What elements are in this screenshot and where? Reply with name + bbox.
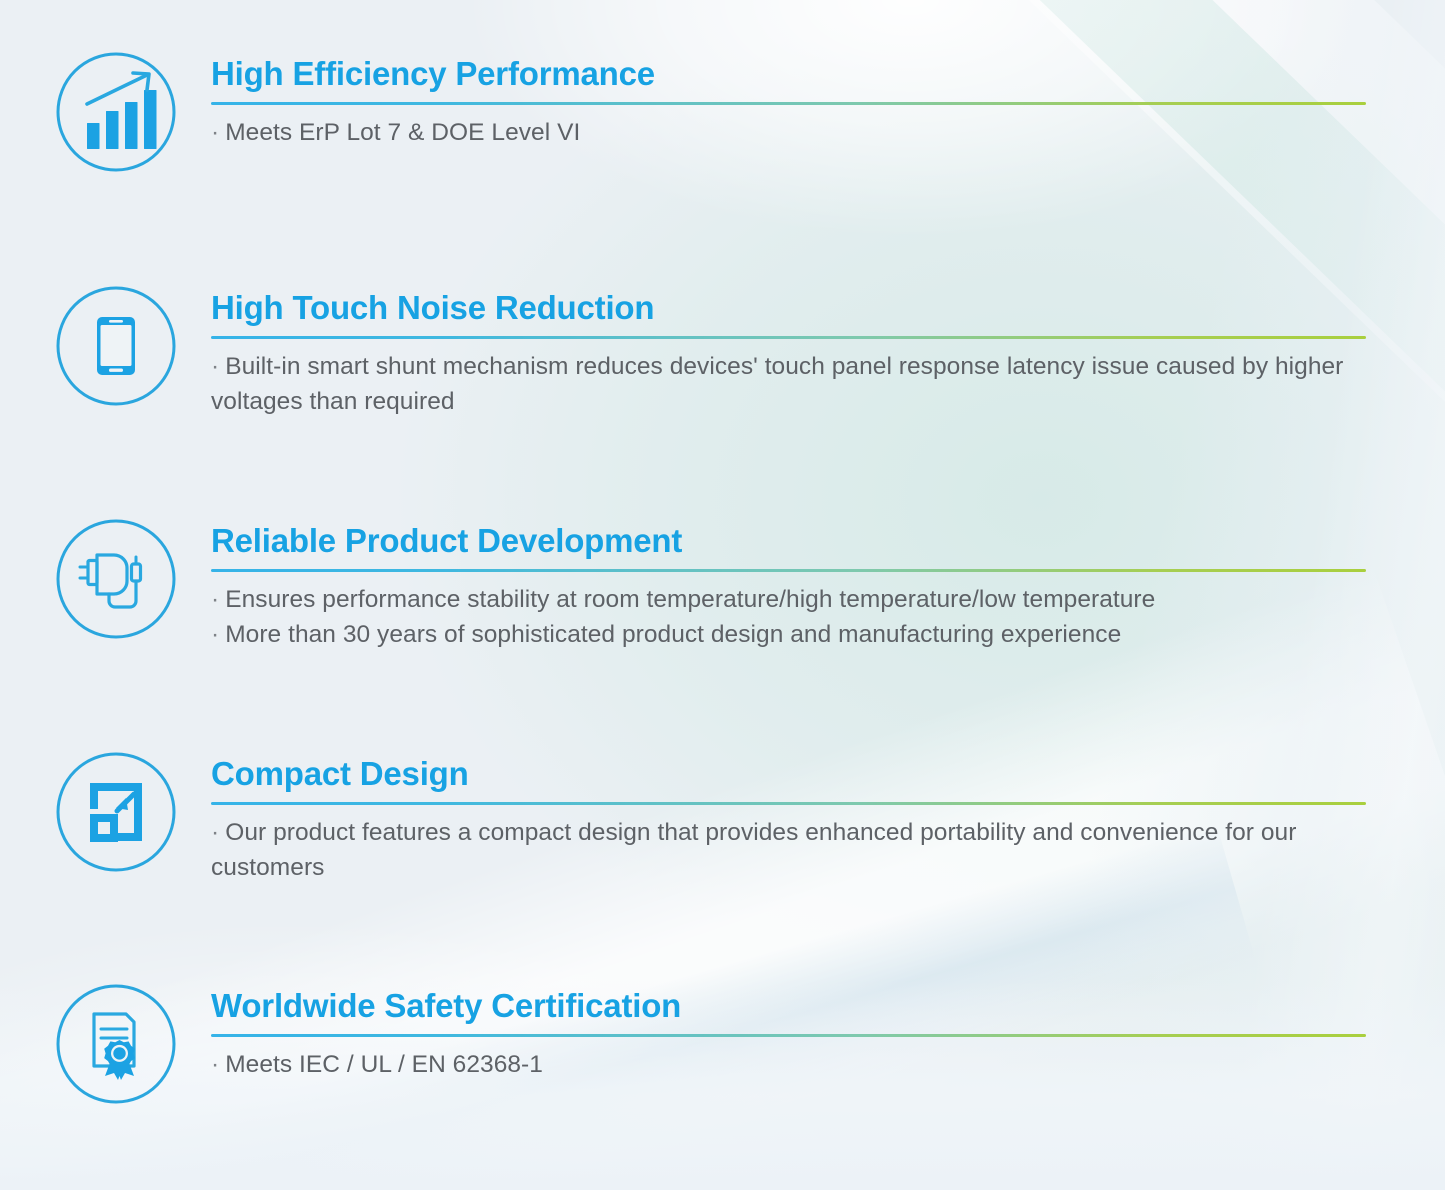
feature-divider bbox=[211, 1034, 1366, 1037]
feature-text-block: High Efficiency Performance ·Meets ErP L… bbox=[211, 50, 1366, 151]
feature-bullet: ·Our product features a compact design t… bbox=[211, 816, 1366, 886]
feature-icon-container bbox=[54, 982, 178, 1106]
feature-item-worldwide-safety-certification: Worldwide Safety Certification ·Meets IE… bbox=[0, 982, 1445, 1106]
feature-bullet: ·More than 30 years of sophisticated pro… bbox=[211, 618, 1366, 653]
feature-title: Worldwide Safety Certification bbox=[211, 988, 1366, 1025]
power-adapter-icon bbox=[54, 517, 178, 641]
bullet-text: Our product features a compact design th… bbox=[211, 819, 1296, 881]
feature-icon-container bbox=[54, 50, 178, 174]
feature-bullet: ·Meets IEC / UL / EN 62368-1 bbox=[211, 1048, 1366, 1083]
feature-icon-container bbox=[54, 284, 178, 408]
certificate-seal-icon bbox=[54, 982, 178, 1106]
feature-text-block: Compact Design ·Our product features a c… bbox=[211, 750, 1366, 886]
feature-title: High Touch Noise Reduction bbox=[211, 290, 1366, 327]
feature-icon-container bbox=[54, 517, 178, 641]
smartphone-icon bbox=[54, 284, 178, 408]
feature-divider bbox=[211, 102, 1366, 105]
feature-bullet-list: ·Meets IEC / UL / EN 62368-1 bbox=[211, 1048, 1366, 1083]
bullet-marker: · bbox=[211, 819, 219, 846]
feature-bullet-list: ·Our product features a compact design t… bbox=[211, 816, 1366, 886]
feature-divider bbox=[211, 802, 1366, 805]
bullet-text: Meets ErP Lot 7 & DOE Level VI bbox=[225, 119, 580, 146]
bullet-text: Meets IEC / UL / EN 62368-1 bbox=[225, 1051, 543, 1078]
bullet-marker: · bbox=[211, 1051, 219, 1078]
feature-bullet: ·Built-in smart shunt mechanism reduces … bbox=[211, 350, 1366, 420]
bullet-marker: · bbox=[211, 621, 219, 648]
feature-divider bbox=[211, 336, 1366, 339]
feature-item-compact-design: Compact Design ·Our product features a c… bbox=[0, 750, 1445, 886]
feature-item-high-touch-noise-reduction: High Touch Noise Reduction ·Built-in sma… bbox=[0, 284, 1445, 420]
feature-bullet-list: ·Ensures performance stability at room t… bbox=[211, 583, 1366, 653]
bullet-marker: · bbox=[211, 353, 219, 380]
feature-bullet-list: ·Built-in smart shunt mechanism reduces … bbox=[211, 350, 1366, 420]
feature-text-block: Worldwide Safety Certification ·Meets IE… bbox=[211, 982, 1366, 1083]
feature-bullet-list: ·Meets ErP Lot 7 & DOE Level VI bbox=[211, 116, 1366, 151]
bullet-marker: · bbox=[211, 119, 219, 146]
feature-bullet: ·Meets ErP Lot 7 & DOE Level VI bbox=[211, 116, 1366, 151]
feature-list: High Efficiency Performance ·Meets ErP L… bbox=[0, 0, 1445, 1190]
feature-divider bbox=[211, 569, 1366, 572]
feature-highlights-page: High Efficiency Performance ·Meets ErP L… bbox=[0, 0, 1445, 1190]
bullet-text: Ensures performance stability at room te… bbox=[225, 586, 1155, 613]
feature-title: High Efficiency Performance bbox=[211, 56, 1366, 93]
bullet-text: Built-in smart shunt mechanism reduces d… bbox=[211, 353, 1343, 415]
feature-icon-container bbox=[54, 750, 178, 874]
feature-text-block: High Touch Noise Reduction ·Built-in sma… bbox=[211, 284, 1366, 420]
compact-resize-icon bbox=[54, 750, 178, 874]
feature-title: Compact Design bbox=[211, 756, 1366, 793]
feature-text-block: Reliable Product Development ·Ensures pe… bbox=[211, 517, 1366, 653]
feature-item-reliable-product-development: Reliable Product Development ·Ensures pe… bbox=[0, 517, 1445, 653]
bullet-marker: · bbox=[211, 586, 219, 613]
bullet-text: More than 30 years of sophisticated prod… bbox=[225, 621, 1121, 648]
feature-item-high-efficiency-performance: High Efficiency Performance ·Meets ErP L… bbox=[0, 50, 1445, 174]
bar-chart-growth-icon bbox=[54, 50, 178, 174]
feature-title: Reliable Product Development bbox=[211, 523, 1366, 560]
feature-bullet: ·Ensures performance stability at room t… bbox=[211, 583, 1366, 618]
